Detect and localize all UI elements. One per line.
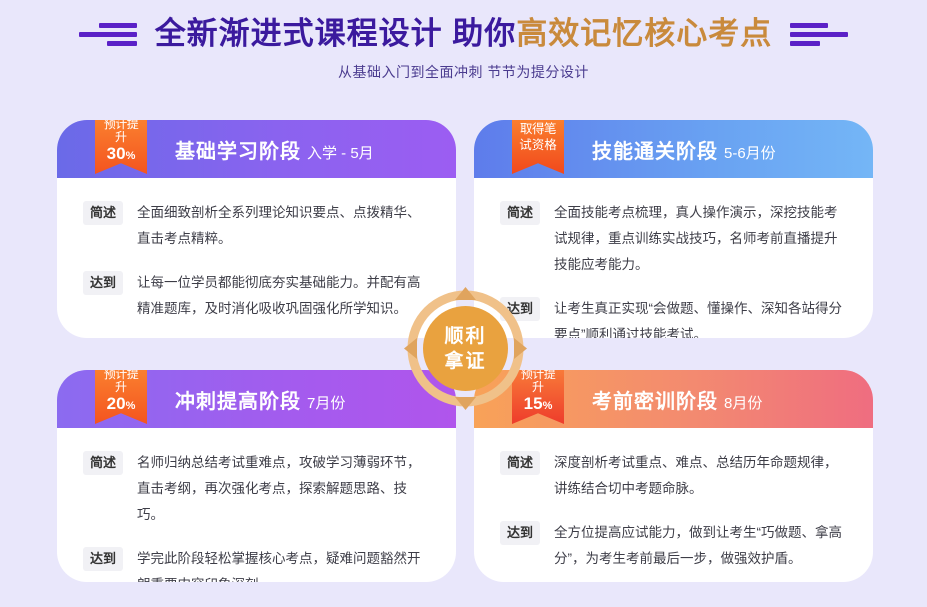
stage-card-1-body: 简述 全面细致剖析全系列理论知识要点、点拨精华、直击考点精粹。 达到 让每一位学…: [57, 178, 456, 322]
row-tag: 简述: [500, 451, 540, 475]
row-tag: 达到: [500, 521, 540, 545]
stage-card-4-header: 预计提 升 15% 考前密训阶段8月份: [474, 370, 873, 428]
stage-card-1-row-outcome: 达到 让每一位学员都能彻底夯实基础能力。并配有高精准题库，及时消化吸收巩固强化所…: [83, 270, 430, 322]
badge-percent-unit: %: [126, 150, 136, 162]
center-text-line-1: 顺利: [444, 324, 486, 349]
stage-card-4-row-summary: 简述 深度剖析考试重点、难点、总结历年命题规律，讲练结合切中考题命脉。: [500, 450, 847, 502]
stage-card-2-header: 取得笔 试资格 技能通关阶段5-6月份: [474, 120, 873, 178]
stage-card-2-title-group: 技能通关阶段5-6月份: [592, 135, 776, 164]
decorative-lines-left-icon: [75, 23, 137, 46]
stage-card-1-badge: 预计提 升 30%: [95, 120, 147, 174]
stage-card-2-row-summary: 简述 全面技能考点梳理，真人操作演示，深挖技能考试规律，重点训练实战技巧，名师考…: [500, 200, 847, 278]
row-tag: 简述: [500, 201, 540, 225]
stage-card-2[interactable]: 取得笔 试资格 技能通关阶段5-6月份 简述 全面技能考点梳理，真人操作演示，深…: [474, 120, 873, 338]
stage-card-3-row-summary: 简述 名师归纳总结考试重难点，攻破学习薄弱环节，直击考纲，再次强化考点，探索解题…: [83, 450, 430, 528]
page-title-highlight: 高效记忆核心考点: [516, 16, 772, 51]
row-text: 深度剖析考试重点、难点、总结历年命题规律，讲练结合切中考题命脉。: [554, 450, 847, 502]
row-text: 全面技能考点梳理，真人操作演示，深挖技能考试规律，重点训练实战技巧，名师考前直播…: [554, 200, 847, 278]
center-cycle-badge: 顺利 拿证: [404, 287, 527, 410]
badge-line-2: 试资格: [519, 137, 557, 153]
stage-card-4-row-outcome: 达到 全方位提高应试能力，做到让考生“巧做题、拿高分”，为考生考前最后一步，做强…: [500, 520, 847, 572]
badge-line-2: 升: [532, 381, 544, 394]
row-text: 名师归纳总结考试重难点，攻破学习薄弱环节，直击考纲，再次强化考点，探索解题思路、…: [137, 450, 430, 528]
stage-card-1-period: 入学 - 5月: [307, 145, 374, 162]
row-text: 全面细致剖析全系列理论知识要点、点拨精华、直击考点精粹。: [137, 200, 430, 252]
badge-percent: 30%: [107, 144, 136, 166]
stage-card-3-header: 预计提 升 20% 冲刺提高阶段7月份: [57, 370, 456, 428]
stage-card-4-period: 8月份: [724, 395, 762, 412]
stage-card-2-period: 5-6月份: [724, 145, 776, 162]
badge-line-2: 升: [115, 381, 127, 394]
stage-card-4[interactable]: 预计提 升 15% 考前密训阶段8月份 简述 深度剖析考试重点、难点、总结历年命…: [474, 370, 873, 582]
badge-percent-unit: %: [126, 400, 136, 412]
page-root: 全新渐进式课程设计 助你高效记忆核心考点 从基础入门到全面冲刺 节节为提分设计 …: [0, 0, 927, 607]
badge-percent: 15%: [524, 394, 553, 416]
page-title-main: 全新渐进式课程设计 助你: [155, 16, 517, 51]
stage-card-2-title: 技能通关阶段: [592, 141, 718, 163]
row-text: 学完此阶段轻松掌握核心考点，疑难问题豁然开朗重要内容印象深刻。: [137, 546, 430, 582]
stage-card-1[interactable]: 预计提 升 30% 基础学习阶段入学 - 5月 简述 全面细致剖析全系列理论知识…: [57, 120, 456, 338]
center-disc: 顺利 拿证: [423, 306, 508, 391]
page-subtitle: 从基础入门到全面冲刺 节节为提分设计: [0, 62, 927, 82]
row-tag: 达到: [83, 547, 123, 571]
stage-card-4-body: 简述 深度剖析考试重点、难点、总结历年命题规律，讲练结合切中考题命脉。 达到 全…: [474, 428, 873, 572]
stage-card-3-row-outcome: 达到 学完此阶段轻松掌握核心考点，疑难问题豁然开朗重要内容印象深刻。: [83, 546, 430, 582]
stage-card-1-header: 预计提 升 30% 基础学习阶段入学 - 5月: [57, 120, 456, 178]
badge-percent-unit: %: [543, 400, 553, 412]
stage-card-2-badge: 取得笔 试资格: [512, 120, 564, 174]
badge-percent: 20%: [107, 394, 136, 416]
center-text-line-2: 拿证: [444, 349, 486, 374]
row-tag: 简述: [83, 451, 123, 475]
stage-card-3-body: 简述 名师归纳总结考试重难点，攻破学习薄弱环节，直击考纲，再次强化考点，探索解题…: [57, 428, 456, 582]
stage-card-1-title: 基础学习阶段: [175, 141, 301, 163]
stage-card-3-period: 7月份: [307, 395, 345, 412]
stage-card-2-row-outcome: 达到 让考生真正实现“会做题、懂操作、深知各站得分要点”顺利通过技能考试。: [500, 296, 847, 338]
badge-line-2: 升: [115, 131, 127, 144]
badge-line-1: 取得笔: [520, 121, 556, 137]
stage-card-1-title-group: 基础学习阶段入学 - 5月: [175, 135, 374, 164]
row-text: 全方位提高应试能力，做到让考生“巧做题、拿高分”，为考生考前最后一步，做强效护盾…: [554, 520, 847, 572]
badge-percent-value: 20: [107, 394, 126, 413]
stage-card-4-title: 考前密训阶段: [592, 391, 718, 413]
row-text: 让每一位学员都能彻底夯实基础能力。并配有高精准题库，及时消化吸收巩固强化所学知识…: [137, 270, 430, 322]
stage-card-3-title-group: 冲刺提高阶段7月份: [175, 385, 345, 414]
decorative-lines-right-icon: [790, 23, 852, 46]
stage-card-4-title-group: 考前密训阶段8月份: [592, 385, 762, 414]
stage-card-3-title: 冲刺提高阶段: [175, 391, 301, 413]
badge-percent-value: 30: [107, 144, 126, 163]
row-tag: 达到: [83, 271, 123, 295]
hero-title-row: 全新渐进式课程设计 助你高效记忆核心考点: [0, 14, 927, 54]
stage-card-1-row-summary: 简述 全面细致剖析全系列理论知识要点、点拨精华、直击考点精粹。: [83, 200, 430, 252]
page-title: 全新渐进式课程设计 助你高效记忆核心考点: [155, 14, 773, 54]
row-tag: 简述: [83, 201, 123, 225]
hero-section: 全新渐进式课程设计 助你高效记忆核心考点 从基础入门到全面冲刺 节节为提分设计: [0, 0, 927, 108]
stage-card-2-body: 简述 全面技能考点梳理，真人操作演示，深挖技能考试规律，重点训练实战技巧，名师考…: [474, 178, 873, 338]
stage-card-3[interactable]: 预计提 升 20% 冲刺提高阶段7月份 简述 名师归纳总结考试重难点，攻破学习薄…: [57, 370, 456, 582]
stage-card-3-badge: 预计提 升 20%: [95, 370, 147, 424]
row-text: 让考生真正实现“会做题、懂操作、深知各站得分要点”顺利通过技能考试。: [554, 296, 847, 338]
